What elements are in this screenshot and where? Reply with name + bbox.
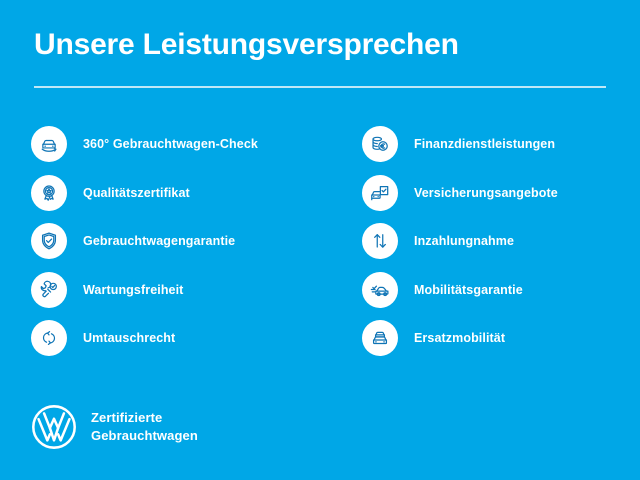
feature-label: Wartungsfreiheit (83, 283, 183, 297)
car-document-check-icon (362, 175, 398, 211)
feature-label: Mobilitätsgarantie (414, 283, 523, 297)
feature-label: Finanzdienstleistungen (414, 137, 555, 151)
car-motion-check-icon (362, 272, 398, 308)
feature-label: Qualitätszertifikat (83, 186, 190, 200)
feature-item-warranty[interactable]: Gebrauchtwagengarantie (31, 217, 331, 266)
brand-text: Zertifizierte Gebrauchtwagen (91, 409, 198, 444)
features-column-right: Finanzdienstleistungen Versicherungsange… (362, 120, 632, 363)
exchange-arrows-icon (31, 320, 67, 356)
features-column-left: 360° Gebrauchtwagen-Check Qualitätszerti… (31, 120, 331, 363)
arrows-up-down-icon (362, 223, 398, 259)
feature-item-mobility-guarantee[interactable]: Mobilitätsgarantie (362, 266, 632, 315)
feature-item-exchange-right[interactable]: Umtauschrecht (31, 314, 331, 363)
feature-label: Umtauschrecht (83, 331, 175, 345)
feature-item-quality-certificate[interactable]: Qualitätszertifikat (31, 169, 331, 218)
wrench-check-icon (31, 272, 67, 308)
feature-item-trade-in[interactable]: Inzahlungnahme (362, 217, 632, 266)
brand-line-1: Zertifizierte (91, 409, 198, 427)
page-title: Unsere Leistungsversprechen (34, 28, 606, 61)
coins-euro-icon (362, 126, 398, 162)
feature-label: 360° Gebrauchtwagen-Check (83, 137, 258, 151)
brand-line-2: Gebrauchtwagen (91, 427, 198, 445)
title-divider (34, 86, 606, 88)
two-cars-front-icon (362, 320, 398, 356)
brand-lockup: Zertifizierte Gebrauchtwagen (31, 404, 198, 450)
feature-item-360-check[interactable]: 360° Gebrauchtwagen-Check (31, 120, 331, 169)
shield-check-icon (31, 223, 67, 259)
feature-item-insurance-offers[interactable]: Versicherungsangebote (362, 169, 632, 218)
feature-item-maintenance-free[interactable]: Wartungsfreiheit (31, 266, 331, 315)
promo-panel: Unsere Leistungsversprechen 360° Gebrauc… (0, 0, 640, 480)
feature-label: Ersatzmobilität (414, 331, 505, 345)
feature-item-financial-services[interactable]: Finanzdienstleistungen (362, 120, 632, 169)
volkswagen-logo (31, 404, 77, 450)
feature-item-replacement-mobility[interactable]: Ersatzmobilität (362, 314, 632, 363)
header: Unsere Leistungsversprechen (34, 28, 606, 61)
feature-label: Gebrauchtwagengarantie (83, 234, 235, 248)
award-rosette-icon (31, 175, 67, 211)
feature-label: Versicherungsangebote (414, 186, 558, 200)
feature-label: Inzahlungnahme (414, 234, 514, 248)
car-360-check-icon (31, 126, 67, 162)
